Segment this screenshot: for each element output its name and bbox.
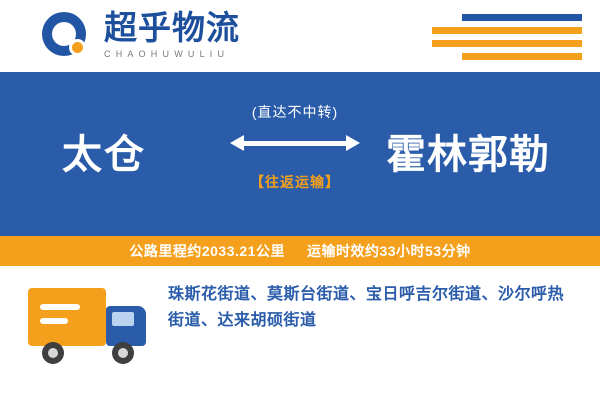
logo-text: 超乎物流 CHAOHUWULIU bbox=[104, 11, 304, 59]
logo-dot bbox=[69, 39, 86, 56]
info-bar: 公路里程约2033.21公里 运输时效约33小时53分钟 bbox=[0, 236, 600, 266]
brand-name-en: CHAOHUWULIU bbox=[104, 49, 304, 59]
truck-wheel-rear bbox=[42, 342, 64, 364]
arrow-line bbox=[236, 141, 348, 146]
stripe-4 bbox=[462, 53, 582, 60]
truck-window bbox=[112, 312, 134, 326]
street-list: 珠斯花街道、莫斯台街道、宝日呼吉尔街道、沙尔呼热街道、达来胡硕街道 bbox=[168, 282, 570, 334]
route-middle: (直达不中转) 【往返运输】 bbox=[230, 102, 360, 192]
double-arrow-icon bbox=[230, 130, 360, 160]
logistics-poster: 超乎物流 CHAOHUWULIU 太仓 (直达不中转) 【往返运输】 霍林郭勒 … bbox=[0, 0, 600, 400]
route-note: (直达不中转) bbox=[230, 102, 360, 122]
truck-stripe-2 bbox=[40, 318, 68, 324]
duration-text: 运输时效约33小时53分钟 bbox=[307, 241, 471, 261]
stripe-3 bbox=[432, 40, 582, 47]
coverage-section: 珠斯花街道、莫斯台街道、宝日呼吉尔街道、沙尔呼热街道、达来胡硕街道 bbox=[0, 266, 600, 400]
stripe-2 bbox=[432, 27, 582, 34]
distance-text: 公路里程约2033.21公里 bbox=[129, 241, 285, 261]
destination-city: 霍林郭勒 bbox=[386, 122, 550, 180]
speed-stripes-icon bbox=[372, 14, 582, 60]
header: 超乎物流 CHAOHUWULIU bbox=[0, 0, 600, 72]
origin-city: 太仓 bbox=[62, 122, 146, 180]
truck-body bbox=[28, 288, 106, 346]
arrow-head-right bbox=[346, 135, 360, 151]
truck-wheel-front bbox=[112, 342, 134, 364]
delivery-truck-icon bbox=[28, 280, 160, 376]
stripe-1 bbox=[462, 14, 582, 21]
truck-stripe-1 bbox=[40, 304, 80, 310]
route-tag: 【往返运输】 bbox=[230, 172, 360, 192]
circle-q-logo-icon bbox=[42, 12, 92, 62]
brand-name-cn: 超乎物流 bbox=[104, 11, 304, 45]
route-panel: 太仓 (直达不中转) 【往返运输】 霍林郭勒 bbox=[0, 72, 600, 236]
